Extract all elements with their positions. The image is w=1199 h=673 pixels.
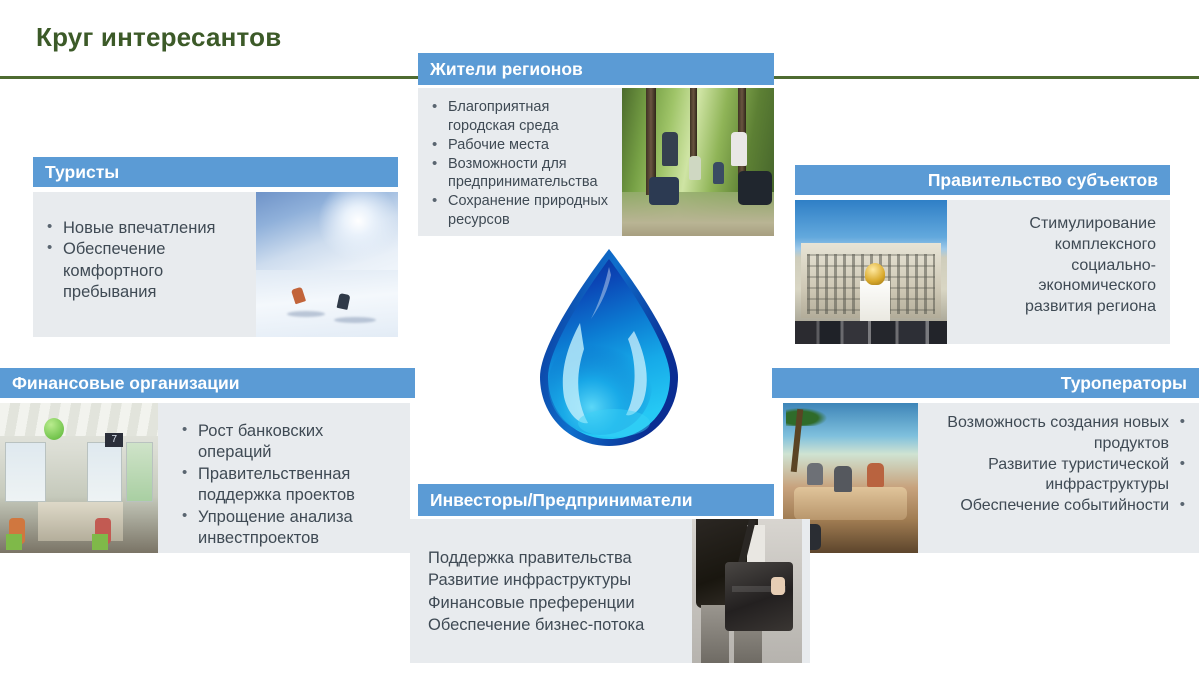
panel-header-finance[interactable]: Финансовые организации (0, 368, 415, 398)
child-figure (713, 162, 724, 184)
panel-body-investors: Поддержка правительства Развитие инфраст… (410, 519, 810, 663)
adult-figure (731, 132, 747, 166)
tour-operators-bullet-list: Возможность создания новых продуктов Раз… (918, 403, 1199, 517)
investors-text-block: Поддержка правительства Развитие инфраст… (410, 519, 682, 663)
list-item: Возможности для предпринимательства (430, 155, 614, 193)
text-line: развития региона (947, 297, 1156, 318)
adult-figure (662, 132, 678, 166)
skier-figure (291, 286, 306, 304)
ceiling (0, 403, 158, 436)
shadow (287, 311, 325, 317)
tourists-bullet-list: Новые впечатления Обеспечение комфортног… (33, 192, 256, 337)
panel-header-investors[interactable]: Инвесторы/Предприниматели (418, 484, 774, 516)
water-drop-icon (528, 245, 690, 450)
text-line: Поддержка правительства (428, 547, 682, 569)
panel-title-tour-operators: Туроператоры (1061, 373, 1187, 394)
palm-frond (786, 406, 832, 426)
window (87, 442, 122, 502)
text-line: социально- (947, 256, 1156, 277)
list-item: Правительственная поддержка проектов (180, 464, 398, 507)
list-item: Обеспечение событийности (918, 496, 1187, 517)
chair (6, 534, 22, 550)
list-item: Возможность создания новых продуктов (918, 413, 1187, 455)
businessman-with-bag-photo (692, 519, 802, 663)
shadow (334, 317, 376, 323)
text-line: Развитие инфраструктуры (428, 569, 682, 591)
panel-body-residents: Благоприятная городская среда Рабочие ме… (418, 88, 774, 236)
panel-title-finance: Финансовые организации (12, 373, 240, 394)
government-building-photo (795, 200, 947, 344)
panel-header-tourists[interactable]: Туристы (33, 157, 398, 187)
panel-header-residents[interactable]: Жители регионов (418, 53, 774, 85)
panel-title-residents: Жители регионов (430, 59, 583, 80)
person-figure (834, 466, 852, 492)
chair (92, 534, 108, 550)
bank-interior-photo: 7 (0, 403, 158, 553)
list-item: Рабочие места (430, 136, 614, 155)
list-item: Сохранение природных ресурсов (430, 192, 614, 230)
person-figure (807, 463, 823, 485)
text-line: Финансовые преференции (428, 592, 682, 614)
text-line: Стимулирование (947, 214, 1156, 235)
text-line: комплексного (947, 235, 1156, 256)
stroller (738, 171, 772, 205)
golden-dome (865, 263, 885, 285)
list-item: Рост банковских операций (180, 421, 398, 464)
stroller (649, 177, 679, 205)
panel-body-tour-operators: Возможность создания новых продуктов Раз… (783, 403, 1199, 553)
green-balloon (44, 418, 64, 440)
finance-bullet-list: Рост банковских операций Правительственн… (158, 403, 398, 550)
window (5, 442, 46, 502)
hand (771, 577, 785, 595)
parked-cars (795, 321, 947, 344)
text-line: экономического (947, 276, 1156, 297)
panel-header-tour-operators[interactable]: Туроператоры (772, 368, 1199, 398)
family-in-park-photo (622, 88, 774, 236)
panel-title-government: Правительство субъектов (928, 170, 1158, 191)
panel-body-government: Стимулирование комплексного социально- э… (795, 200, 1170, 344)
queue-number-display: 7 (105, 433, 123, 447)
person-figure (867, 463, 884, 487)
child-figure (689, 156, 701, 180)
page-title: Круг интересантов (36, 22, 281, 53)
list-item: Новые впечатления (45, 218, 256, 239)
window (126, 442, 153, 502)
leather-bag (725, 562, 793, 631)
slide-canvas: Круг интересантов Туристы Новые впечатле… (0, 0, 1199, 673)
government-text-block: Стимулирование комплексного социально- э… (947, 200, 1170, 318)
panel-header-government[interactable]: Правительство субъектов (795, 165, 1170, 195)
ski-slope-photo (256, 192, 398, 337)
panel-body-finance: 7 Рост банковских операций Правительстве… (0, 403, 410, 553)
panel-title-investors: Инвесторы/Предприниматели (430, 490, 693, 511)
residents-bullet-list: Благоприятная городская среда Рабочие ме… (418, 88, 614, 236)
list-item: Благоприятная городская среда (430, 98, 614, 136)
list-item: Развитие туристической инфраструктуры (918, 455, 1187, 497)
list-item: Упрощение анализа инвестпроектов (180, 507, 398, 550)
skier-figure (337, 293, 351, 310)
panel-body-tourists: Новые впечатления Обеспечение комфортног… (33, 192, 398, 337)
panel-title-tourists: Туристы (45, 162, 119, 183)
text-line: Обеспечение бизнес-потока (428, 614, 682, 636)
water-drop (528, 245, 690, 450)
drop-bottom-shine (578, 409, 650, 437)
list-item: Обеспечение комфортного пребывания (45, 239, 256, 303)
